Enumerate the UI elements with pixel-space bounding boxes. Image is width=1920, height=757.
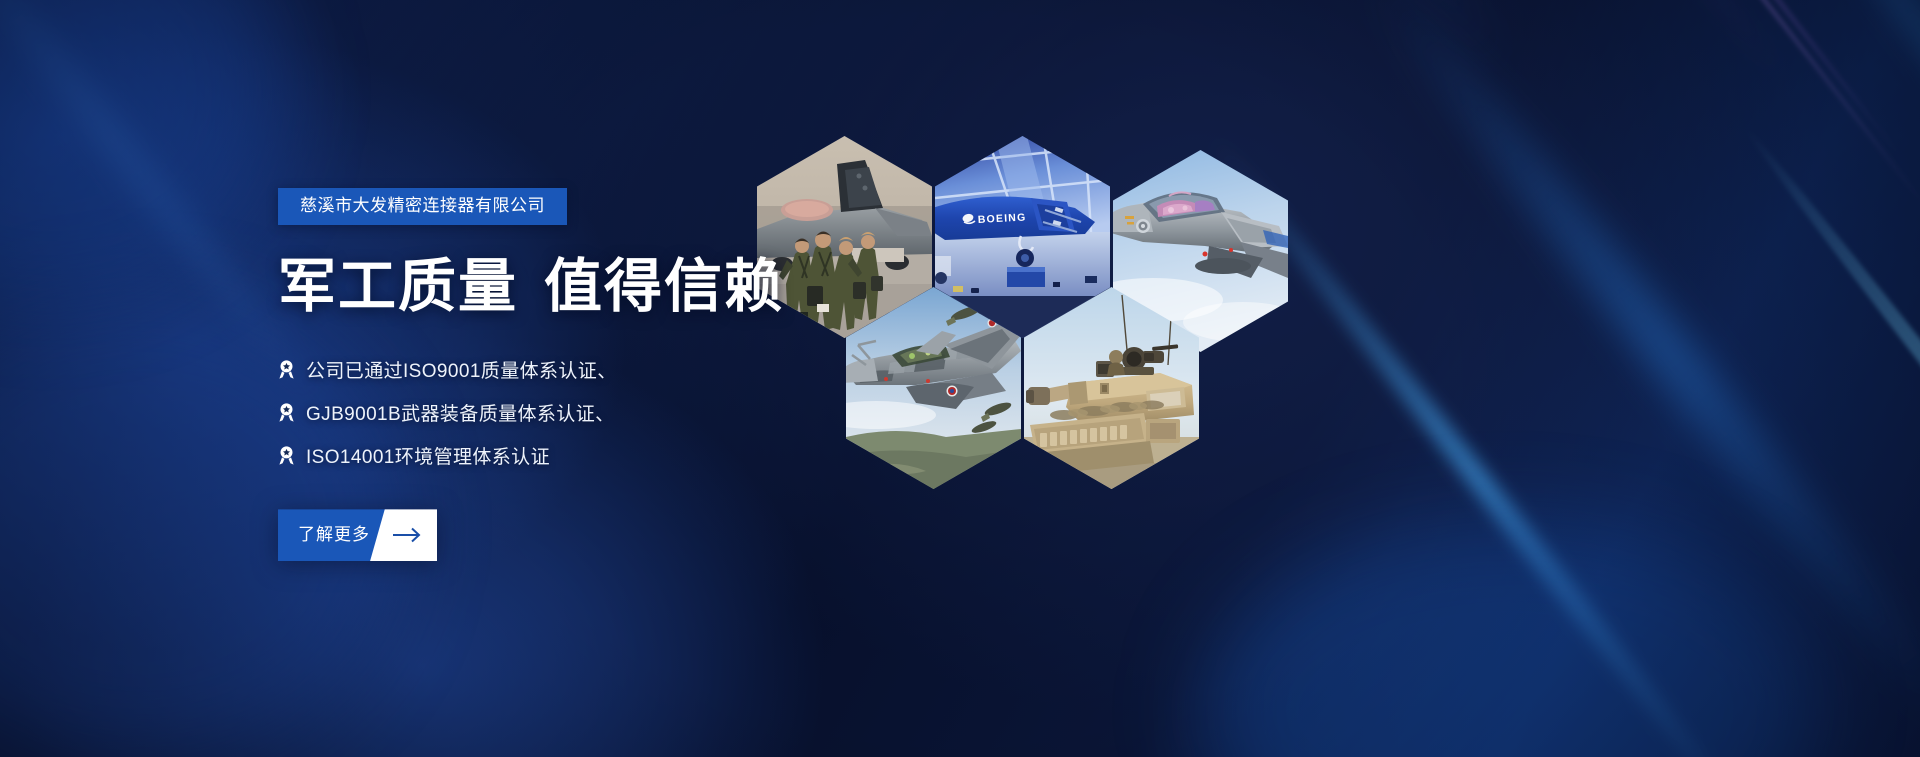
list-item-label: ISO14001环境管理体系认证 [306,442,550,469]
list-item: ISO14001环境管理体系认证 [278,442,978,469]
headline-part-1: 军工质量 [278,254,518,319]
arrow-right-icon [391,525,425,545]
streak-violet-2 [1282,0,1920,222]
streak-cyan-4 [1641,0,1920,491]
certification-list: 公司已通过ISO9001质量体系认证、 GJB9001B武器装备质量体系认证、 [278,356,978,469]
learn-more-label: 了解更多 [298,509,370,561]
streak-deep-blue-2 [1350,0,1920,753]
list-item: 公司已通过ISO9001质量体系认证、 [278,356,978,383]
medal-icon [278,446,295,465]
medal-icon [278,360,295,379]
list-item-label: GJB9001B武器装备质量体系认证、 [306,399,615,426]
page-title: 军工质量值得信赖 [278,255,978,320]
learn-more-button[interactable]: 了解更多 [278,509,437,561]
streak-cyan-5 [1696,0,1920,587]
streak-deep-blue-4 [1740,124,1920,733]
headline-part-2: 值得信赖 [544,254,784,319]
list-item-label: 公司已通过ISO9001质量体系认证、 [306,356,617,383]
glow-orb-bottomright [1200,520,1820,757]
streak-violet-3 [1164,0,1795,90]
streak-cyan-1 [1412,0,1920,271]
hero-banner: 慈溪市大发精密连接器有限公司 军工质量值得信赖 公司已通过ISO9001质量体系… [0,0,1920,757]
streak-cyan-3 [1557,0,1920,426]
medal-icon [278,403,295,422]
boeing-logo-text: BOEING [978,211,1027,226]
list-item: GJB9001B武器装备质量体系认证、 [278,399,978,426]
streak-violet-1 [1235,0,1905,161]
company-name-badge: 慈溪市大发精密连接器有限公司 [278,188,567,226]
banner-content: 慈溪市大发精密连接器有限公司 军工质量值得信赖 公司已通过ISO9001质量体系… [278,0,978,757]
glow-orb-topleft [0,0,280,300]
streak-cyan-2 [1497,0,1920,320]
